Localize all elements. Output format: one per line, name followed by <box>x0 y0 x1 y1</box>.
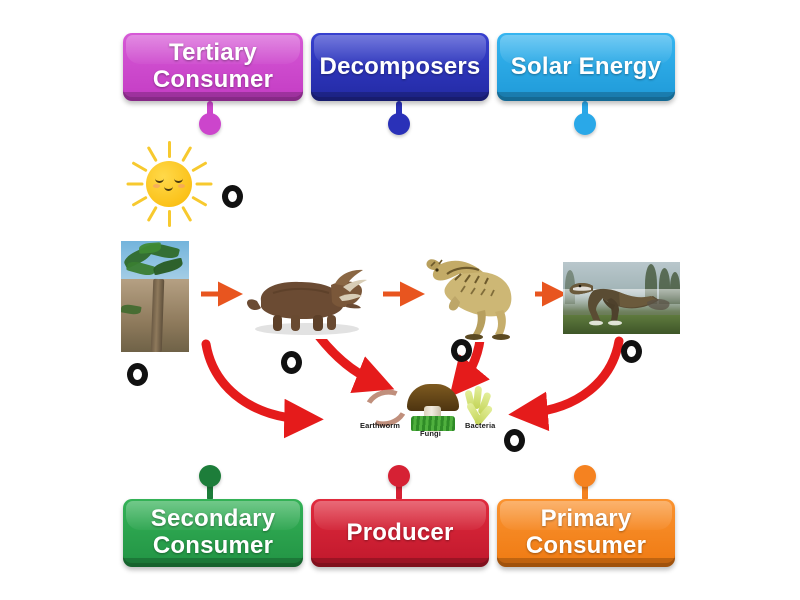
connector-decomposers <box>396 101 402 133</box>
drop-target-solar[interactable] <box>222 185 243 208</box>
label-line-1: Primary <box>526 506 646 533</box>
connector-secondary-consumer <box>207 467 213 501</box>
palm-tree-photo <box>121 241 189 352</box>
label-card-secondary-consumer[interactable]: Secondary Consumer <box>123 499 303 567</box>
label-card-primary-consumer[interactable]: Primary Consumer <box>497 499 675 567</box>
label-line-1: Tertiary <box>153 40 273 67</box>
triceratops-photo <box>243 257 368 339</box>
label-card-tertiary-consumer[interactable]: Tertiary Consumer <box>123 33 303 101</box>
connector-primary-consumer <box>582 467 588 501</box>
label-line-1: Decomposers <box>320 54 481 81</box>
decomposer-tag-earthworm: Earthworm <box>360 421 400 430</box>
arrow-tyrannosaurus-to-decomposers <box>528 341 619 413</box>
diagram-canvas: Earthworm Fungi Bacteria Tertiary Consu <box>0 0 800 600</box>
connector-solar-energy <box>582 101 588 133</box>
label-line-1: Solar Energy <box>511 54 661 81</box>
connector-tertiary-consumer <box>207 101 213 133</box>
label-card-producer[interactable]: Producer <box>311 499 489 567</box>
crested-dinosaur-photo <box>425 252 535 342</box>
drop-target-producer[interactable] <box>127 363 148 386</box>
label-card-decomposers[interactable]: Decomposers <box>311 33 489 101</box>
label-line-2: Consumer <box>526 533 646 560</box>
drop-target-tertiary[interactable] <box>621 340 642 363</box>
label-line-1: Producer <box>347 520 454 547</box>
decomposer-tag-bacteria: Bacteria <box>465 421 495 430</box>
label-line-2: Consumer <box>153 67 273 94</box>
label-line-2: Consumer <box>151 533 276 560</box>
connector-producer <box>396 467 402 501</box>
drop-target-decomposers[interactable] <box>504 429 525 452</box>
drop-target-secondary[interactable] <box>451 339 472 362</box>
sun-face <box>146 161 192 207</box>
label-line-1: Secondary <box>151 506 276 533</box>
sun-icon <box>128 143 210 225</box>
decomposer-tag-fungi: Fungi <box>420 429 441 438</box>
drop-target-primary[interactable] <box>281 351 302 374</box>
tyrannosaurus-rex-photo <box>563 262 680 334</box>
label-card-solar-energy[interactable]: Solar Energy <box>497 33 675 101</box>
decomposers-photo: Earthworm Fungi Bacteria <box>360 380 505 438</box>
